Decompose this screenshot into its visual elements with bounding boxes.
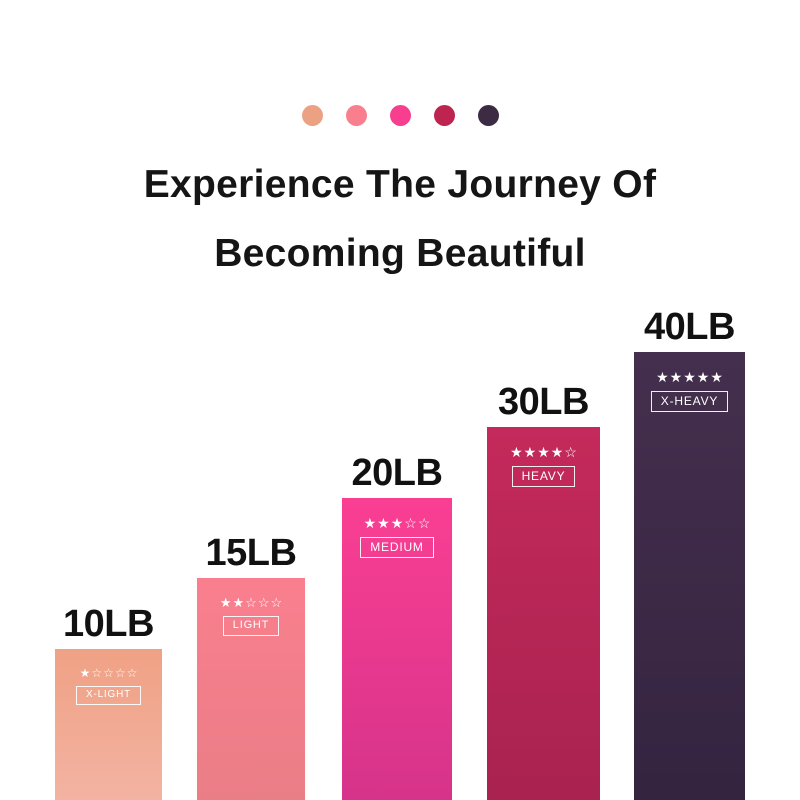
bar-20lb-level-badge: MEDIUM [360,537,433,558]
poster-canvas: Experience The Journey Of Becoming Beaut… [0,0,800,800]
bar-10lb-level-badge: X-LIGHT [76,686,141,705]
bar-10lb-column: ★☆☆☆☆X-LIGHT [55,649,162,800]
star-filled-icon: ★ [391,516,404,530]
bar-20lb-value-label: 20LB [352,454,443,492]
star-filled-icon: ★ [697,370,710,384]
bar-30lb-content: ★★★★☆HEAVY [487,427,600,487]
bar-30lb-column: ★★★★☆HEAVY [487,427,600,800]
bar-10lb-content: ★☆☆☆☆X-LIGHT [55,649,162,705]
star-empty-icon: ☆ [258,596,270,609]
bar-40lb-column: ★★★★★X-HEAVY [634,352,745,800]
star-filled-icon: ★ [220,596,232,609]
bar-40lb-rating-stars: ★★★★★ [656,370,723,384]
bar-40lb-value-label: 40LB [644,308,735,346]
bar-40lb-level-badge: X-HEAVY [651,391,728,412]
bar-40lb[interactable]: 40LB★★★★★X-HEAVY [634,352,745,800]
star-filled-icon: ★ [510,445,523,459]
bar-15lb-value-label: 15LB [206,534,297,572]
star-empty-icon: ☆ [270,596,282,609]
star-filled-icon: ★ [364,516,377,530]
bar-10lb-value-label: 10LB [63,605,154,643]
star-empty-icon: ☆ [91,667,102,679]
bar-30lb[interactable]: 30LB★★★★☆HEAVY [487,427,600,800]
bar-15lb-level-badge: LIGHT [223,616,279,636]
star-filled-icon: ★ [80,667,91,679]
star-filled-icon: ★ [551,445,564,459]
bar-30lb-level-badge: HEAVY [512,466,576,487]
star-filled-icon: ★ [537,445,550,459]
star-filled-icon: ★ [233,596,245,609]
bar-15lb-content: ★★☆☆☆LIGHT [197,578,305,636]
star-empty-icon: ☆ [127,667,138,679]
bar-10lb-rating-stars: ★☆☆☆☆ [80,667,138,679]
star-filled-icon: ★ [683,370,696,384]
bar-20lb-content: ★★★☆☆MEDIUM [342,498,452,558]
star-filled-icon: ★ [656,370,669,384]
star-empty-icon: ☆ [418,516,431,530]
bar-10lb[interactable]: 10LB★☆☆☆☆X-LIGHT [55,649,162,800]
bar-20lb[interactable]: 20LB★★★☆☆MEDIUM [342,498,452,800]
bar-30lb-rating-stars: ★★★★☆ [510,445,577,459]
resistance-bar-chart: 10LB★☆☆☆☆X-LIGHT15LB★★☆☆☆LIGHT20LB★★★☆☆M… [0,0,800,800]
bar-15lb[interactable]: 15LB★★☆☆☆LIGHT [197,578,305,800]
star-empty-icon: ☆ [564,445,577,459]
bar-20lb-column: ★★★☆☆MEDIUM [342,498,452,800]
bar-20lb-rating-stars: ★★★☆☆ [364,516,431,530]
star-empty-icon: ☆ [115,667,126,679]
star-filled-icon: ★ [670,370,683,384]
bar-30lb-value-label: 30LB [498,383,589,421]
star-filled-icon: ★ [710,370,723,384]
star-empty-icon: ☆ [245,596,257,609]
bar-15lb-rating-stars: ★★☆☆☆ [220,596,282,609]
star-filled-icon: ★ [377,516,390,530]
bar-15lb-column: ★★☆☆☆LIGHT [197,578,305,800]
star-empty-icon: ☆ [103,667,114,679]
star-filled-icon: ★ [524,445,537,459]
star-empty-icon: ☆ [404,516,417,530]
bar-40lb-content: ★★★★★X-HEAVY [634,352,745,412]
